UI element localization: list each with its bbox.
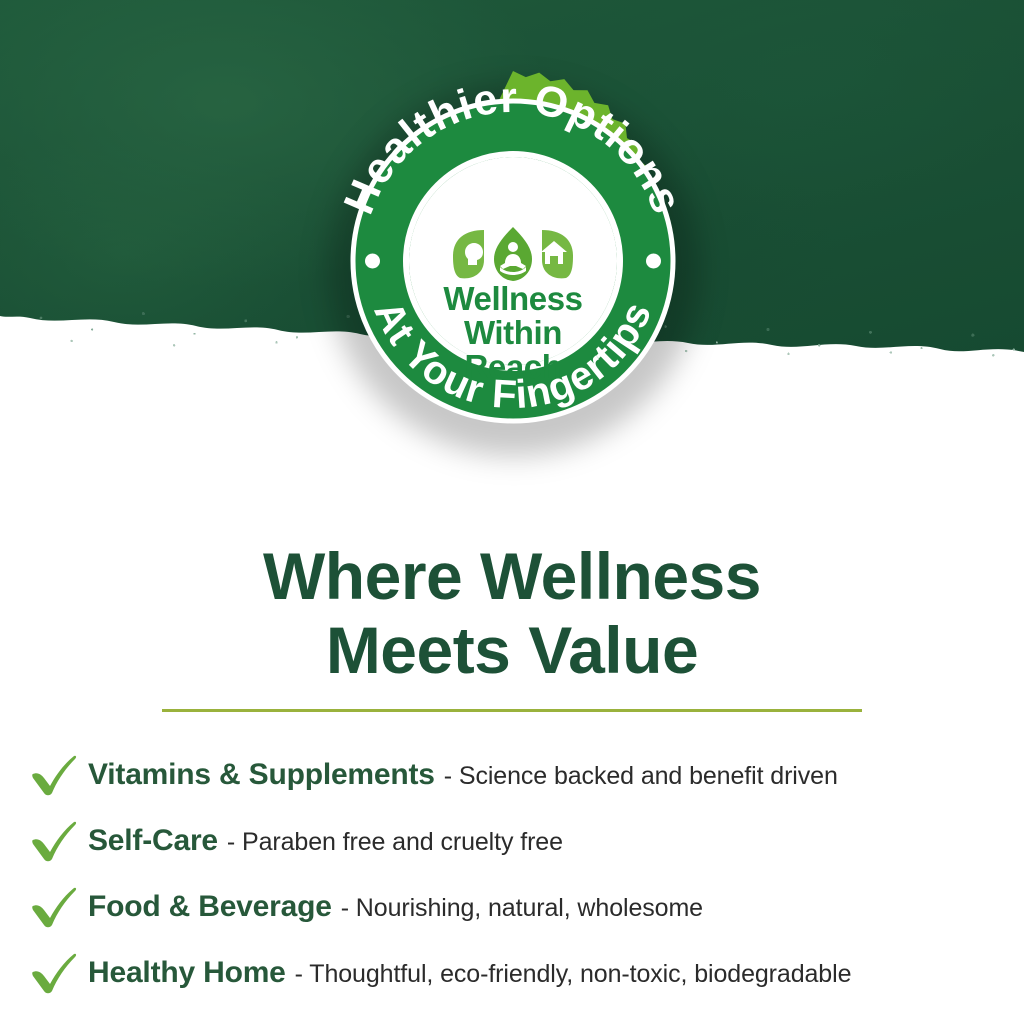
- headline-divider: [162, 709, 862, 712]
- badge-center-line-1: Wellness: [398, 282, 628, 316]
- check-icon: [28, 752, 80, 798]
- check-icon: [28, 884, 80, 930]
- list-item: Food & Beverage - Nourishing, natural, w…: [28, 874, 1008, 940]
- benefit-description: - Paraben free and cruelty free: [227, 828, 563, 857]
- benefits-list: Vitamins & Supplements - Science backed …: [28, 742, 1008, 1006]
- benefit-label: Food & Beverage: [88, 890, 332, 924]
- benefit-text: Vitamins & Supplements - Science backed …: [88, 758, 838, 792]
- benefit-text: Food & Beverage - Nourishing, natural, w…: [88, 890, 703, 924]
- benefit-description: - Nourishing, natural, wholesome: [341, 894, 703, 923]
- wellness-badge: Healthier Options At Your Fingertips: [318, 66, 708, 456]
- house-leaf-icon: [541, 230, 573, 278]
- leaf-icon-trio: [450, 226, 576, 282]
- headline-line-1: Where Wellness: [0, 540, 1024, 614]
- promo-canvas: Healthier Options At Your Fingertips: [0, 0, 1024, 1024]
- page-title: Where Wellness Meets Value: [0, 540, 1024, 688]
- badge-separator-dot-right: [646, 254, 661, 269]
- benefit-label: Self-Care: [88, 824, 218, 858]
- meditation-figure-leaf-icon: [494, 227, 532, 281]
- head-profile-leaf-icon: [453, 230, 484, 278]
- badge-center-line-2: Within: [398, 316, 628, 350]
- list-item: Healthy Home - Thoughtful, eco-friendly,…: [28, 940, 1008, 1006]
- check-icon: [28, 950, 80, 996]
- benefit-text: Self-Care - Paraben free and cruelty fre…: [88, 824, 563, 858]
- badge-center-line-3: Reach: [398, 350, 628, 384]
- headline-line-2: Meets Value: [0, 614, 1024, 688]
- benefit-description: - Thoughtful, eco-friendly, non-toxic, b…: [295, 960, 852, 989]
- list-item: Vitamins & Supplements - Science backed …: [28, 742, 1008, 808]
- badge-center-text: Wellness Within Reach: [398, 282, 628, 384]
- benefit-description: - Science backed and benefit driven: [444, 762, 838, 791]
- badge-separator-dot-left: [365, 254, 380, 269]
- benefit-label: Healthy Home: [88, 956, 286, 990]
- benefit-label: Vitamins & Supplements: [88, 758, 435, 792]
- check-icon: [28, 818, 80, 864]
- benefit-text: Healthy Home - Thoughtful, eco-friendly,…: [88, 956, 851, 990]
- list-item: Self-Care - Paraben free and cruelty fre…: [28, 808, 1008, 874]
